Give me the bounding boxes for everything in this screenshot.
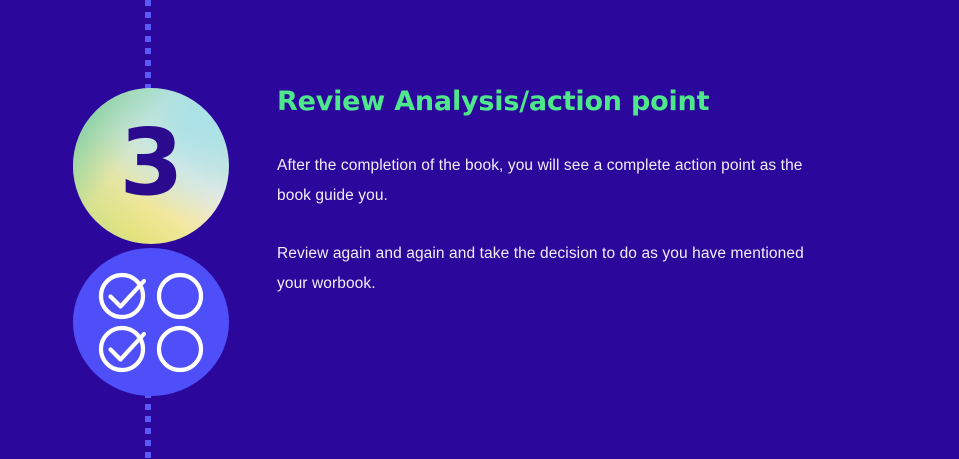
timeline-connector-bottom [145,392,151,459]
slide-canvas: 3 Review Analysis/action point After the… [0,0,959,459]
timeline-connector-top [145,0,151,96]
page-title: Review Analysis/action point [277,86,837,118]
checklist-icon-badge [73,248,229,396]
content-column: Review Analysis/action point After the c… [277,86,837,298]
checklist-icon [96,270,208,374]
body-paragraph-2: Review again and again and take the deci… [277,239,837,299]
step-number-label: 3 [119,117,182,209]
body-paragraph-1: After the completion of the book, you wi… [277,151,837,211]
step-number-badge: 3 [73,88,229,244]
